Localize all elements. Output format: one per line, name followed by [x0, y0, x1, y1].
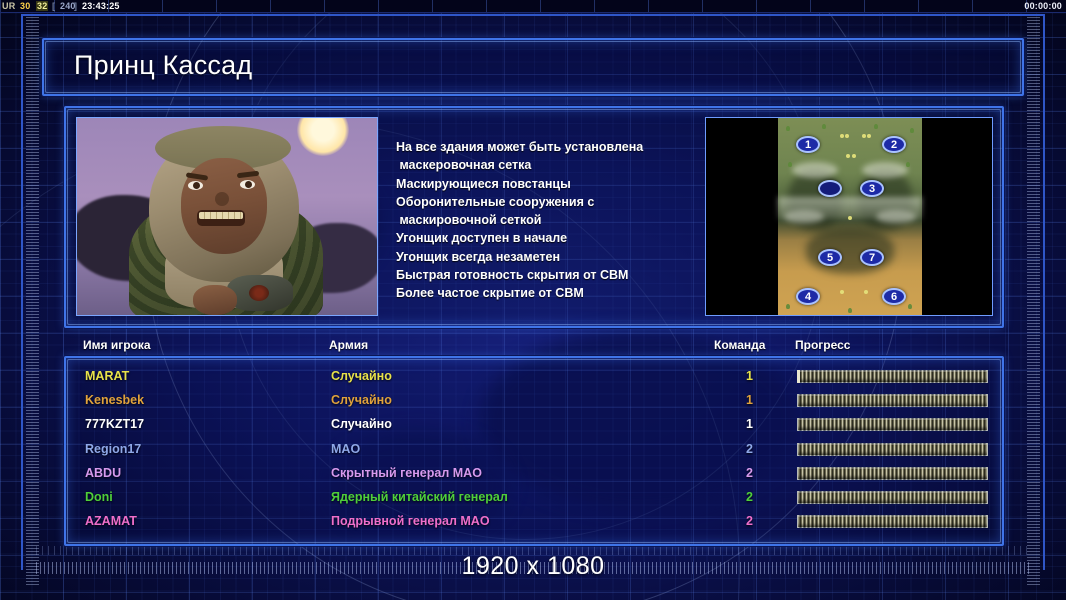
header-army: Армия — [329, 338, 368, 352]
portrait-eye-left — [188, 181, 203, 190]
ability-line: На все здания может быть установлена — [396, 138, 686, 156]
player-name: 777KZT17 — [85, 417, 144, 431]
player-table-panel: MARATСлучайно1KenesbekСлучайно1777KZT17С… — [64, 356, 1004, 546]
portrait-hand — [193, 285, 237, 315]
frame-top — [21, 14, 1045, 16]
portrait-weapon — [227, 275, 293, 311]
frame-left — [21, 14, 23, 570]
player-name: ABDU — [85, 466, 121, 480]
portrait-mouth — [197, 210, 245, 226]
header-player-name: Имя игрока — [83, 338, 151, 352]
player-army: Случайно — [331, 393, 392, 407]
table-row[interactable]: Region17MAO2 — [66, 439, 1002, 463]
game-lobby-screen: UR 30 32 [ 240 ] 23:43:25 00:00:00 Принц… — [0, 0, 1066, 600]
progress-bar — [797, 515, 988, 528]
map-spawn-6: 6 — [882, 288, 906, 305]
map-spawn-3: 3 — [860, 180, 884, 197]
progress-bar — [797, 394, 988, 407]
title-panel: Принц Кассад — [42, 38, 1024, 96]
ability-line: маскеровочная сетка — [396, 156, 686, 174]
ability-line: Маскирующиеся повстанцы — [396, 175, 686, 193]
progress-bar — [797, 370, 988, 383]
player-name: Region17 — [85, 442, 141, 456]
resolution-label: 1920 x 1080 — [0, 552, 1066, 581]
player-rows: MARATСлучайно1KenesbekСлучайно1777KZT17С… — [66, 358, 1002, 544]
status-bar: UR 30 32 [ 240 ] 23:43:25 00:00:00 — [0, 0, 1066, 13]
player-army: MAO — [331, 442, 360, 456]
progress-bar — [797, 443, 988, 456]
status-bar-grid — [0, 0, 1066, 12]
player-table-header: Имя игрока Армия Команда Прогресс — [64, 336, 1004, 358]
table-row[interactable]: ABDUСкрытный генерал MAO2 — [66, 463, 1002, 487]
table-row[interactable]: KenesbekСлучайно1 — [66, 390, 1002, 414]
player-team: 2 — [746, 442, 753, 456]
table-row[interactable]: AZAMATПодрывной генерал MAO2 — [66, 511, 1002, 535]
status-clock: 23:43:25 — [82, 1, 120, 11]
map-spawn-2: 2 — [882, 136, 906, 153]
progress-bar — [797, 418, 988, 431]
map-terrain: 1 2 8 3 5 7 4 6 — [778, 118, 922, 315]
ruler-right — [1027, 14, 1040, 586]
ability-line: Оборонительные сооружения с — [396, 193, 686, 211]
general-ability-list: На все здания может быть установлена мас… — [396, 138, 686, 303]
portrait-nose — [215, 192, 229, 206]
general-info-panel: На все здания может быть установлена мас… — [64, 106, 1004, 328]
player-army: Ядерный китайский генерал — [331, 490, 508, 504]
portrait-eye-right — [240, 180, 255, 189]
ability-line: Быстрая готовность скрытия от СВМ — [396, 266, 686, 284]
status-bracket-open: [ — [52, 1, 55, 11]
player-name: MARAT — [85, 369, 129, 383]
status-number-1: 30 — [20, 1, 30, 11]
ruler-left — [26, 14, 39, 586]
status-tag: UR — [2, 1, 15, 11]
ability-line: Более частое скрытие от СВМ — [396, 284, 686, 302]
player-team: 2 — [746, 490, 753, 504]
table-row[interactable]: 777KZT17Случайно1 — [66, 414, 1002, 438]
player-army: Случайно — [331, 417, 392, 431]
map-spawn-7: 7 — [860, 249, 884, 266]
status-number-2: 32 — [36, 1, 48, 11]
map-spawn-4: 4 — [796, 288, 820, 305]
player-name: Doni — [85, 490, 113, 504]
progress-bar — [797, 467, 988, 480]
table-row[interactable]: DoniЯдерный китайский генерал2 — [66, 487, 1002, 511]
player-team: 1 — [746, 417, 753, 431]
player-army: Скрытный генерал MAO — [331, 466, 482, 480]
ability-line: Угонщик всегда незаметен — [396, 248, 686, 266]
player-team: 1 — [746, 393, 753, 407]
player-team: 2 — [746, 466, 753, 480]
map-preview: 1 2 8 3 5 7 4 6 — [705, 117, 993, 316]
player-army: Подрывной генерал MAO — [331, 514, 490, 528]
player-name: AZAMAT — [85, 514, 137, 528]
general-portrait — [76, 117, 378, 316]
map-spawn-1: 1 — [796, 136, 820, 153]
map-spawn-8: 8 — [818, 180, 842, 197]
frame-right — [1043, 14, 1045, 570]
ability-line: маскировочной сеткой — [396, 211, 686, 229]
player-name: Kenesbek — [85, 393, 144, 407]
header-progress: Прогресс — [795, 338, 850, 352]
map-spawn-5: 5 — [818, 249, 842, 266]
player-team: 2 — [746, 514, 753, 528]
player-team: 1 — [746, 369, 753, 383]
status-timer: 00:00:00 — [1024, 1, 1062, 11]
page-title: Принц Кассад — [74, 50, 252, 81]
table-row[interactable]: MARATСлучайно1 — [66, 366, 1002, 390]
progress-bar — [797, 491, 988, 504]
header-team: Команда — [714, 338, 765, 352]
ability-line: Угонщик доступен в начале — [396, 229, 686, 247]
status-bracket-close: ] — [74, 1, 77, 11]
player-army: Случайно — [331, 369, 392, 383]
